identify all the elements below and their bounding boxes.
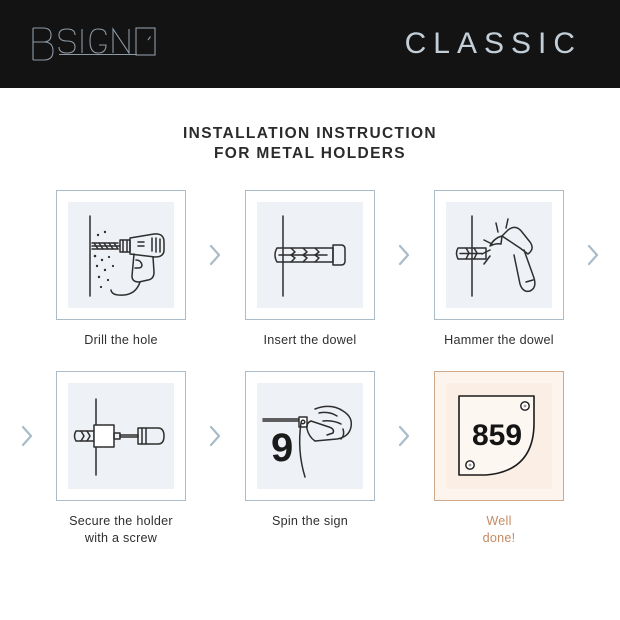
hammer-icon (446, 202, 552, 308)
page-header: CLASSIC (0, 0, 620, 88)
step-panel (56, 190, 186, 320)
step-caption: Well done! (429, 513, 569, 547)
bsign-door-logo (30, 24, 158, 64)
instruction-steps: Drill the hole (0, 190, 620, 547)
next-step-chevron (394, 371, 416, 501)
step-insert-the-dowel: Insert the dowel (245, 190, 375, 349)
step-panel: 9 (245, 371, 375, 501)
step-well-done: 859 Well done! (434, 371, 564, 547)
next-step-chevron (205, 190, 227, 320)
collection-name: CLASSIC (405, 27, 590, 61)
spin-number: 9 (271, 426, 293, 470)
finished-sign-icon: 859 (446, 383, 552, 489)
next-step-chevron (205, 371, 227, 501)
step-caption: Hammer the dowel (429, 332, 569, 349)
page-title: INSTALLATION INSTRUCTION FOR METAL HOLDE… (0, 124, 620, 164)
sign-number: 859 (472, 419, 522, 452)
step-drill-the-hole: Drill the hole (56, 190, 186, 349)
step-caption: Spin the sign (240, 513, 380, 530)
brand-logo (30, 24, 158, 64)
page-title-line-1: INSTALLATION INSTRUCTION (0, 124, 620, 144)
step-panel (434, 190, 564, 320)
step-caption: Drill the hole (51, 332, 191, 349)
step-caption: Secure the holder with a screw (51, 513, 191, 547)
step-secure-the-holder: Secure the holder with a screw (56, 371, 186, 547)
next-step-chevron (394, 190, 416, 320)
hand-spin-icon: 9 (257, 383, 363, 489)
next-step-chevron (16, 371, 38, 501)
step-caption: Insert the dowel (240, 332, 380, 349)
page-title-line-2: FOR METAL HOLDERS (0, 144, 620, 164)
screwdriver-icon (68, 383, 174, 489)
step-spin-the-sign: 9 (245, 371, 375, 530)
step-hammer-the-dowel: Hammer the dowel (434, 190, 564, 349)
drill-icon (68, 202, 174, 308)
step-caption-line-1: Secure the holder with a screw (69, 514, 173, 545)
step-panel-completed: 859 (434, 371, 564, 501)
next-step-chevron (582, 190, 604, 320)
step-caption-text: Well done! (483, 514, 516, 545)
steps-row-1: Drill the hole (56, 190, 564, 349)
dowel-icon (257, 202, 363, 308)
steps-row-2: Secure the holder with a screw 9 (56, 371, 564, 547)
step-panel (56, 371, 186, 501)
step-panel (245, 190, 375, 320)
